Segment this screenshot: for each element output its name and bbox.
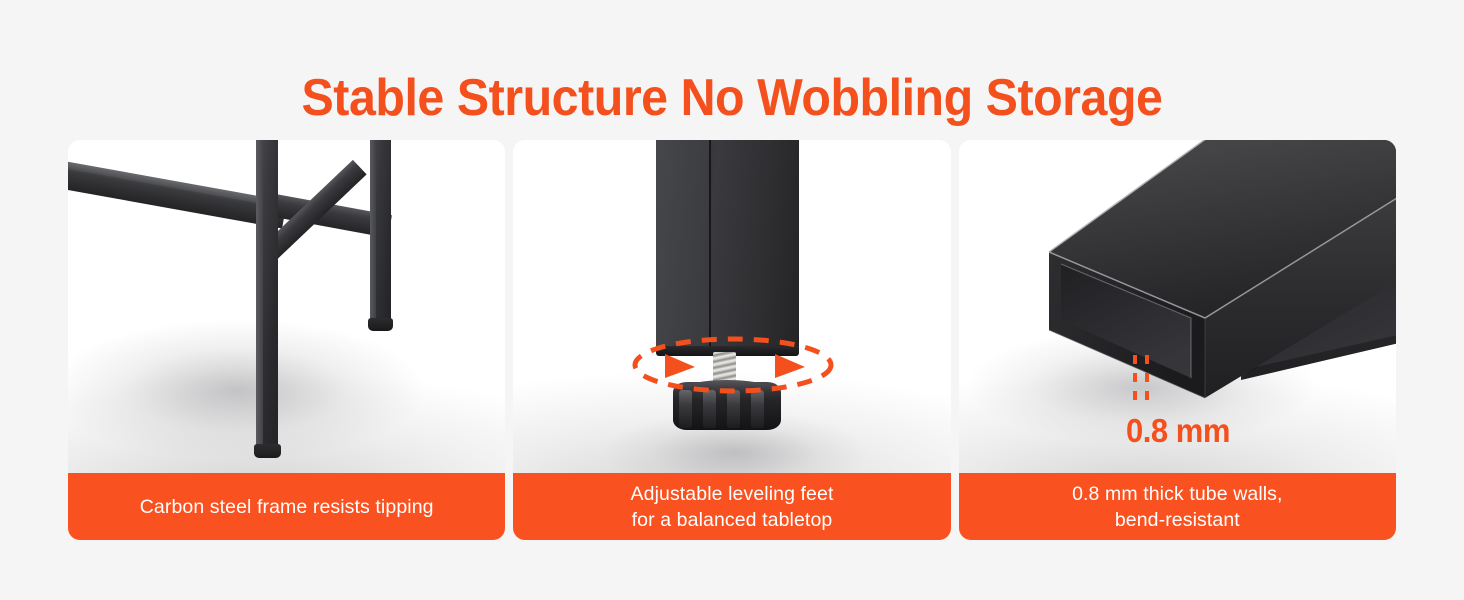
frame-leg-left-front-face xyxy=(256,140,263,452)
frame-leg-right-front-face xyxy=(370,140,376,324)
frame-foot-cap-left xyxy=(254,444,281,458)
thickness-callout-label: 0.8 mm xyxy=(972,412,1384,450)
thickness-callout-leader xyxy=(1099,355,1189,415)
page-title: Stable Structure No Wobbling Storage xyxy=(51,68,1413,128)
rotation-arrows-icon xyxy=(613,320,853,410)
feature-panels: Carbon steel frame resists tipping xyxy=(68,140,1396,540)
panel-photo-carbon-steel-frame xyxy=(68,140,505,473)
feature-panel-adjustable-leveling-feet: Adjustable leveling feet for a balanced … xyxy=(513,140,950,540)
feature-panel-carbon-steel-frame: Carbon steel frame resists tipping xyxy=(68,140,505,540)
panel-photo-leveling-feet xyxy=(513,140,950,473)
panel-caption-leveling-feet: Adjustable leveling feet for a balanced … xyxy=(513,473,950,540)
caption-line: bend-resistant xyxy=(1072,507,1282,533)
feature-panel-tube-wall-thickness: 0.8 mm 0.8 mm thick tube walls, bend-res… xyxy=(959,140,1396,540)
panel-caption-tube-wall-thickness: 0.8 mm thick tube walls, bend-resistant xyxy=(959,473,1396,540)
panel-photo-steel-tubes: 0.8 mm xyxy=(959,140,1396,473)
caption-line: Carbon steel frame resists tipping xyxy=(140,494,434,520)
caption-line: Adjustable leveling feet xyxy=(631,481,834,507)
caption-line: for a balanced tabletop xyxy=(631,507,834,533)
infographic-page: Stable Structure No Wobbling Storage xyxy=(0,0,1464,600)
panel-caption-carbon-steel-frame: Carbon steel frame resists tipping xyxy=(68,473,505,540)
caption-line: 0.8 mm thick tube walls, xyxy=(1072,481,1282,507)
frame-foot-cap-right xyxy=(368,318,393,331)
